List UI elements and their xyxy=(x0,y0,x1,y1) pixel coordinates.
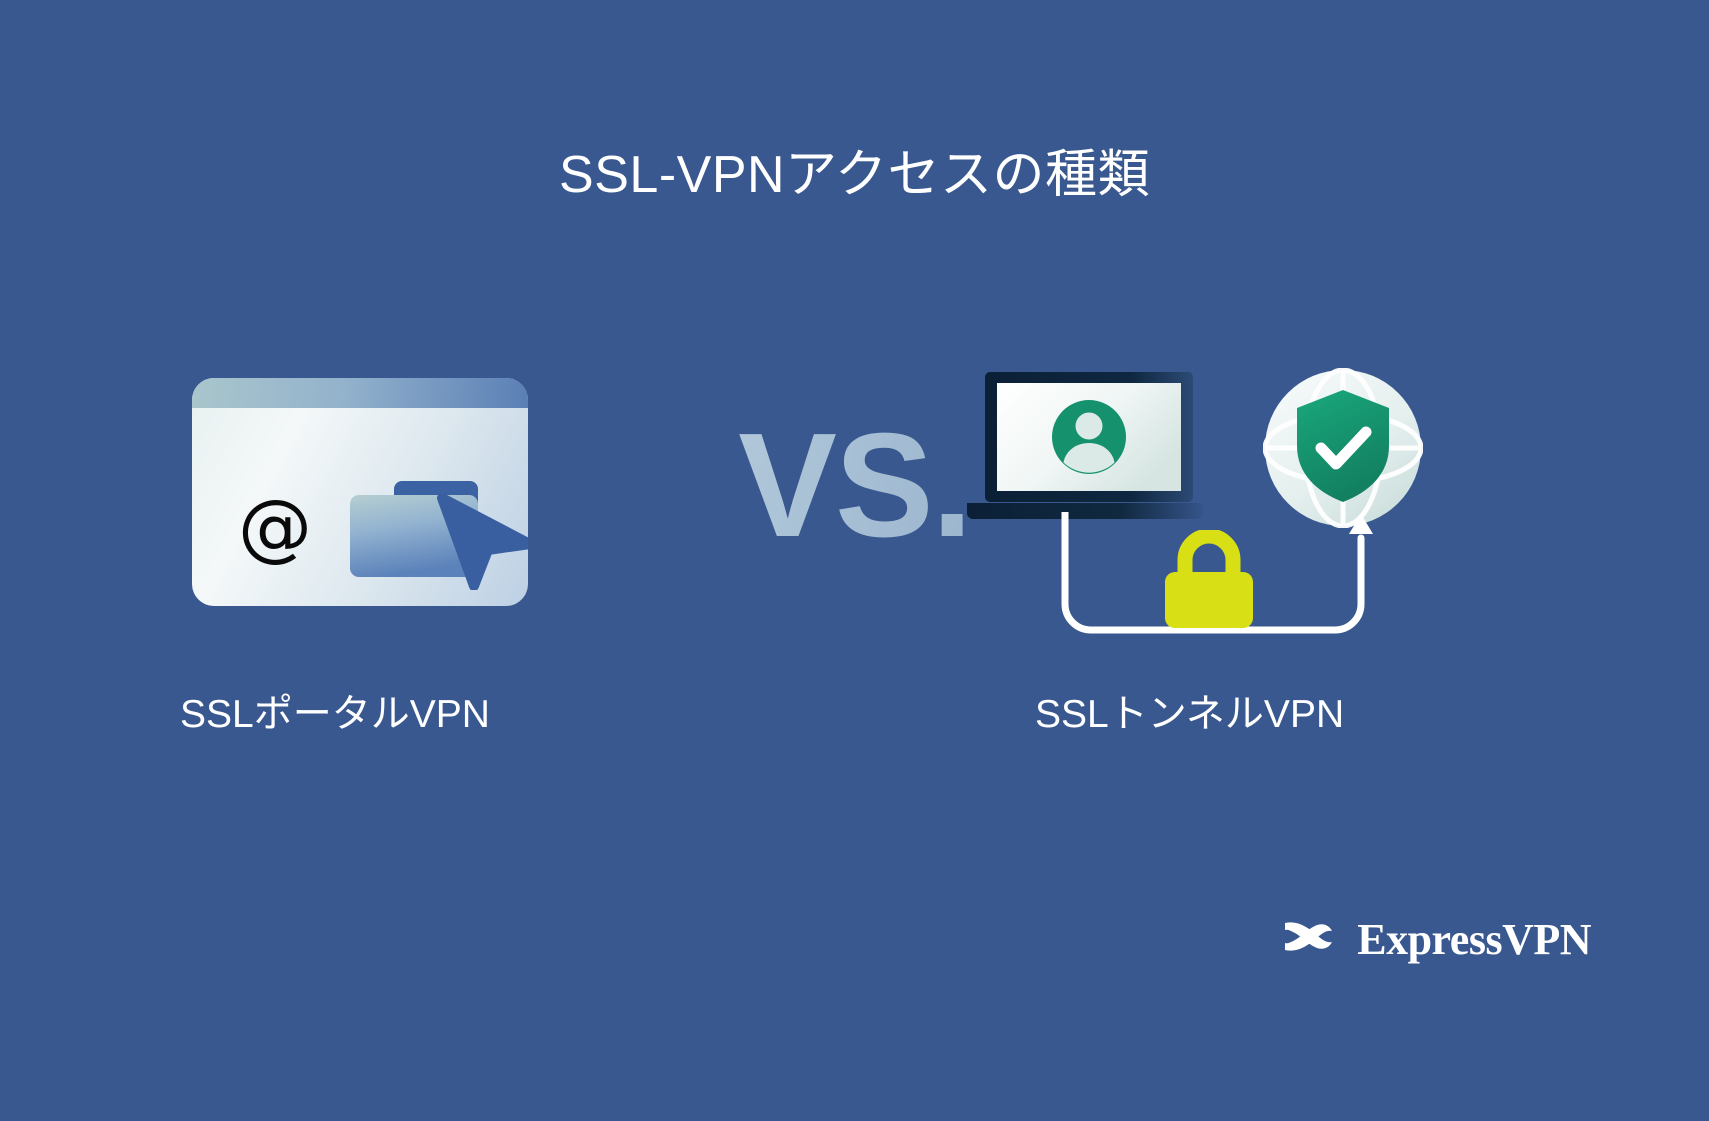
infographic-canvas: SSL-VPNアクセスの種類 @ xyxy=(0,0,1709,1121)
caption-ssl-tunnel-vpn: SSLトンネルVPN xyxy=(1035,692,1344,739)
ssl-tunnel-illustration xyxy=(955,362,1425,642)
window-titlebar xyxy=(192,378,528,408)
expressvpn-logo: ExpressVPN xyxy=(1279,914,1591,965)
user-avatar-icon xyxy=(1052,400,1126,474)
expressvpn-wordmark: ExpressVPN xyxy=(1357,914,1591,965)
versus-label: VS. xyxy=(0,412,1709,560)
expressvpn-swoosh-icon xyxy=(1279,917,1341,963)
page-title: SSL-VPNアクセスの種類 xyxy=(0,144,1709,206)
padlock-icon xyxy=(1163,530,1255,630)
laptop-icon xyxy=(967,372,1203,524)
globe-icon xyxy=(1263,368,1423,528)
caption-ssl-portal-vpn: SSLポータルVPN xyxy=(180,692,490,739)
